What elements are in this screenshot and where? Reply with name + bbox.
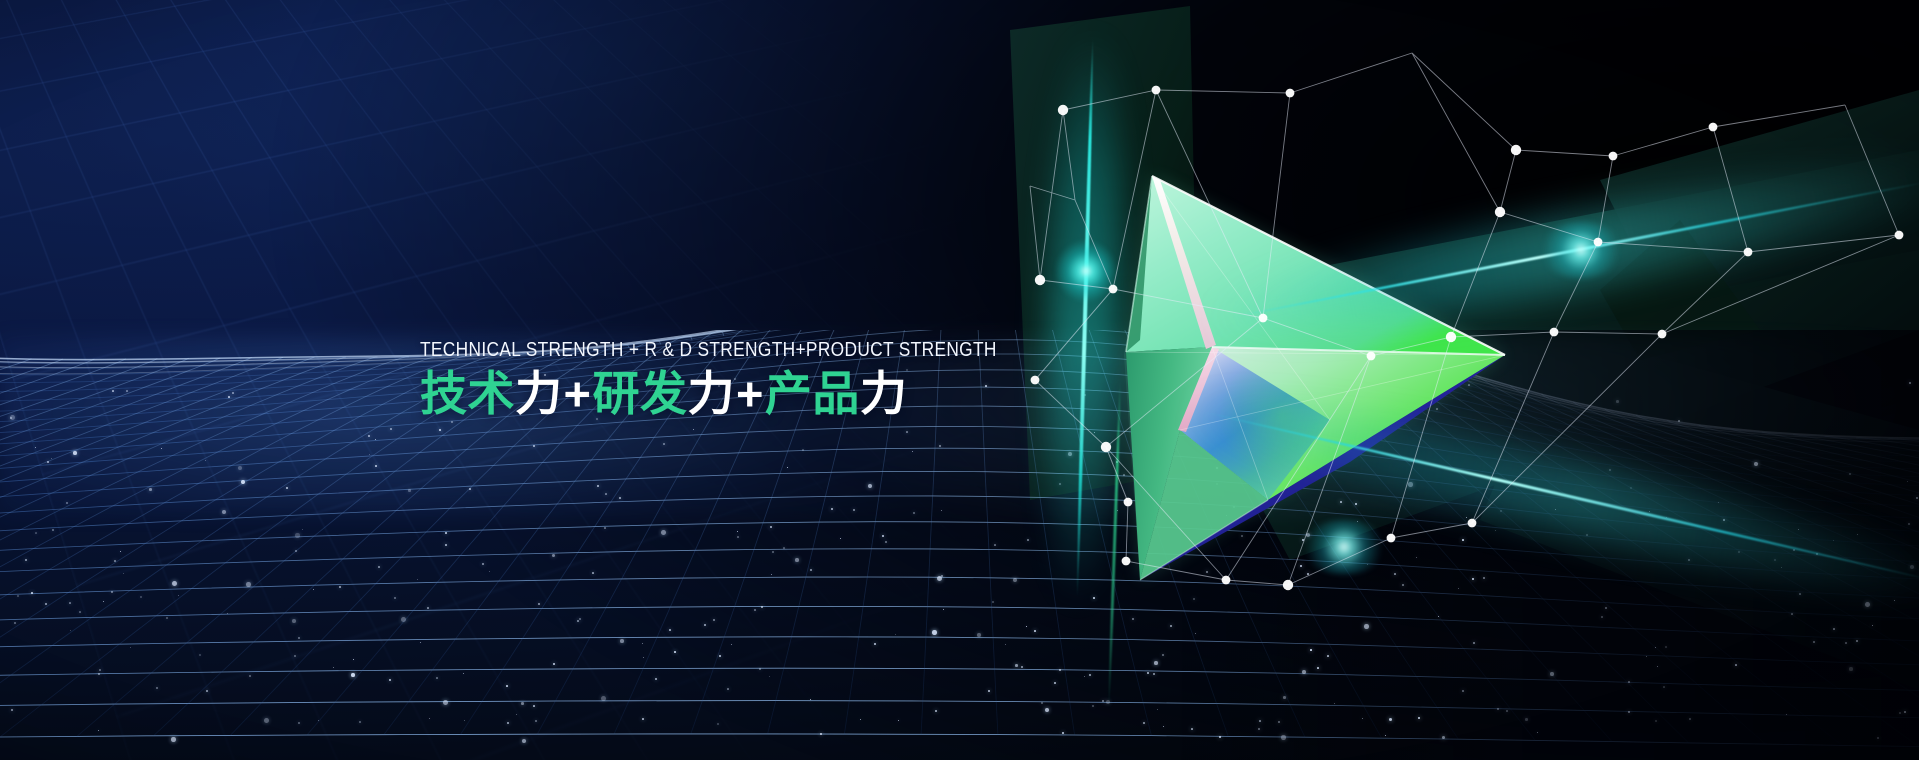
- particle-dot: [427, 607, 429, 609]
- particle-dot: [1665, 646, 1667, 648]
- particle-dot: [1909, 382, 1911, 384]
- particle-dot: [408, 489, 411, 492]
- particle-dot: [1916, 497, 1918, 499]
- particle-dot: [592, 572, 594, 574]
- network-node: [1468, 519, 1477, 528]
- particle-dot: [1435, 379, 1437, 381]
- particle-dot: [992, 601, 994, 603]
- particle-dot: [482, 563, 484, 565]
- particle-dot: [533, 445, 535, 447]
- particle-dot: [295, 533, 300, 538]
- particle-dot: [178, 595, 179, 596]
- network-node: [1152, 86, 1161, 95]
- particle-dot: [11, 709, 13, 711]
- particle-dot: [521, 702, 524, 705]
- particle-dot: [1385, 735, 1386, 736]
- particle-dot: [507, 722, 509, 724]
- particle-dot: [1857, 534, 1858, 535]
- particle-dot: [1418, 717, 1420, 719]
- network-node: [1495, 207, 1505, 217]
- particle-dot: [932, 630, 937, 635]
- particle-dot: [1601, 616, 1603, 618]
- particle-dot: [820, 733, 822, 735]
- particle-dot: [232, 392, 234, 394]
- particle-dot: [727, 688, 729, 690]
- particle-dot: [1170, 625, 1172, 627]
- particle-dot: [1059, 669, 1061, 671]
- particle-dot: [868, 484, 872, 488]
- vertical-beam-flare: [1055, 240, 1117, 302]
- network-node: [1609, 152, 1618, 161]
- particle-dot: [1799, 593, 1801, 595]
- prism-left-face: [1126, 347, 1212, 580]
- particle-dot: [1362, 718, 1363, 719]
- particle-dot: [1605, 607, 1607, 609]
- particle-dot: [1655, 720, 1657, 722]
- particle-dot: [906, 431, 908, 433]
- particle-dot: [1034, 630, 1036, 632]
- particle-dot: [1015, 664, 1018, 667]
- particle-dot: [66, 502, 68, 504]
- particle-dot: [31, 592, 33, 594]
- particle-dot: [52, 529, 54, 531]
- title-segment-2: +: [563, 367, 593, 420]
- particle-dot: [390, 428, 392, 430]
- particle-dot: [313, 589, 314, 590]
- particle-dot: [368, 435, 370, 437]
- particle-dot: [759, 668, 761, 670]
- particle-dot: [369, 454, 370, 455]
- particle-dot: [451, 421, 453, 423]
- title-segment-7: 力: [860, 367, 908, 420]
- particle-dot: [120, 551, 121, 552]
- particle-dot: [1132, 618, 1134, 620]
- particle-dot: [1147, 672, 1149, 674]
- particle-dot: [1389, 718, 1392, 721]
- particle-dot: [1754, 462, 1758, 466]
- particle-dot: [939, 445, 941, 447]
- particle-dot: [394, 597, 396, 599]
- particle-dot: [69, 602, 71, 604]
- particle-dot: [895, 634, 896, 635]
- particle-dot: [669, 629, 671, 631]
- particle-dot: [469, 488, 471, 490]
- particle-dot: [241, 480, 245, 484]
- particle-dot: [1506, 710, 1508, 712]
- particle-dot: [577, 620, 579, 622]
- particle-dot: [522, 739, 526, 743]
- particle-dot: [579, 618, 581, 620]
- particle-dot: [1334, 703, 1335, 704]
- particle-dot: [359, 721, 361, 723]
- particle-dot: [463, 673, 464, 674]
- particle-dot: [1062, 732, 1064, 734]
- particle-dot: [439, 429, 441, 431]
- particle-dot: [1045, 708, 1049, 712]
- particle-dot: [1226, 515, 1227, 516]
- particle-dot: [1317, 667, 1319, 669]
- particle-dot: [1193, 598, 1195, 600]
- particle-dot: [1877, 737, 1879, 739]
- particle-dot: [1216, 467, 1218, 469]
- particle-dot: [1628, 711, 1630, 713]
- particle-dot: [860, 719, 861, 720]
- particle-dot: [1153, 673, 1155, 675]
- particle-dot: [286, 487, 288, 489]
- particle-dot: [1872, 625, 1873, 626]
- particle-dot: [51, 458, 52, 459]
- particle-dot: [943, 609, 944, 610]
- particle-dot: [1364, 624, 1369, 629]
- particle-dot: [1655, 647, 1656, 648]
- particle-dot: [264, 718, 269, 723]
- particle-dot: [1157, 709, 1158, 710]
- particle-dot: [10, 415, 15, 420]
- particle-dot: [802, 449, 804, 451]
- particle-dot: [172, 581, 177, 586]
- title-segment-1: 力: [515, 367, 563, 420]
- title-segment-6: 产品: [765, 367, 860, 420]
- particle-dot: [45, 603, 47, 605]
- particle-dot: [1849, 667, 1853, 671]
- particle-dot: [674, 651, 676, 653]
- particle-dot: [840, 538, 841, 539]
- particle-dot: [885, 541, 887, 543]
- particle-dot: [1005, 644, 1006, 645]
- particle-dot: [1786, 714, 1787, 715]
- particle-dot: [787, 467, 788, 468]
- particle-dot: [1495, 530, 1496, 531]
- particle-dot: [988, 690, 990, 692]
- particle-dot: [552, 554, 555, 557]
- particle-dot: [378, 566, 380, 568]
- particle-dot: [1300, 565, 1302, 567]
- title-segment-4: 力: [687, 367, 735, 420]
- particle-dot: [1143, 722, 1145, 724]
- particle-dot: [1849, 473, 1851, 475]
- particle-dot: [420, 642, 421, 643]
- title-segment-5: +: [735, 367, 765, 420]
- particle-dot: [70, 630, 71, 631]
- network-node: [1283, 580, 1293, 590]
- particle-dot: [318, 720, 319, 721]
- network-node: [1286, 89, 1295, 98]
- particle-dot: [99, 669, 101, 671]
- particle-dot: [443, 700, 448, 705]
- particle-dot: [1856, 640, 1858, 642]
- network-node: [1122, 557, 1131, 566]
- particle-dot: [663, 443, 665, 445]
- particle-dot: [1466, 517, 1467, 518]
- particle-dot: [538, 603, 540, 605]
- particle-dot: [693, 429, 694, 430]
- particle-dot: [1142, 531, 1144, 533]
- particle-dot: [1195, 633, 1196, 634]
- particle-dot: [1904, 711, 1906, 713]
- particle-dot: [553, 663, 555, 665]
- particle-dot: [1084, 676, 1085, 677]
- particle-dot: [112, 390, 114, 392]
- particle-dot: [1402, 584, 1404, 586]
- prism-left-flank-dark: [1126, 176, 1152, 352]
- network-node: [1550, 328, 1559, 337]
- particle-dot: [73, 451, 77, 455]
- particle-dot: [98, 673, 100, 675]
- particle-dot: [1021, 666, 1023, 668]
- particle-dot: [149, 488, 152, 491]
- particle-dot: [1436, 408, 1438, 410]
- prism-left-lower: [1140, 430, 1268, 580]
- particle-dot: [1468, 384, 1470, 386]
- particle-dot: [1027, 539, 1029, 541]
- particle-dot: [333, 667, 334, 668]
- particle-dot: [772, 551, 774, 553]
- particle-dot: [339, 586, 341, 588]
- network-node: [1511, 145, 1521, 155]
- particle-dot: [1102, 700, 1104, 702]
- particle-dot: [294, 655, 296, 657]
- particle-dot: [719, 655, 721, 657]
- particle-dot: [655, 678, 657, 680]
- network-node: [1124, 498, 1133, 507]
- particle-dot: [130, 647, 131, 648]
- particle-dot: [227, 613, 228, 614]
- particle-dot: [199, 654, 201, 656]
- particle-dot: [14, 622, 16, 624]
- particle-dot: [771, 574, 772, 575]
- particle-dot: [238, 466, 242, 470]
- particle-dot: [941, 510, 942, 511]
- particle-dot: [489, 571, 490, 572]
- particle-dot: [98, 730, 99, 731]
- particle-dot: [1833, 628, 1835, 630]
- particle-dot: [1258, 728, 1260, 730]
- particle-dot: [1616, 400, 1619, 403]
- particle-dot: [205, 460, 206, 461]
- particle-dot: [1132, 397, 1134, 399]
- particle-dot: [761, 606, 763, 608]
- upper-diagonal-flare: [1538, 222, 1624, 278]
- particle-dot: [810, 699, 811, 700]
- particle-dot: [1462, 539, 1464, 541]
- particle-dot: [1310, 649, 1312, 651]
- particle-dot: [605, 493, 607, 495]
- particle-dot: [1353, 394, 1355, 396]
- particle-dot: [302, 529, 303, 530]
- particle-dot: [601, 696, 606, 701]
- particle-dot: [1241, 535, 1243, 537]
- prism-spine: [1152, 176, 1216, 349]
- particle-dot: [1013, 578, 1017, 582]
- particle-dot: [1041, 702, 1043, 704]
- particle-dot: [717, 723, 719, 725]
- particle-dot: [1483, 577, 1485, 579]
- particle-dot: [298, 637, 300, 639]
- particle-dot: [1550, 672, 1554, 676]
- particle-dot: [535, 720, 537, 722]
- network-node: [1035, 275, 1045, 285]
- particle-dot: [1026, 626, 1027, 627]
- lower-diagonal-flare: [1300, 520, 1388, 574]
- particle-dot: [1473, 642, 1475, 644]
- particle-dot: [1688, 559, 1690, 561]
- particle-dot: [1628, 681, 1630, 683]
- particle-dot: [103, 601, 104, 602]
- title-segment-0: 技术: [420, 367, 515, 420]
- network-node: [1658, 330, 1667, 339]
- hero-banner: TECHNICAL STRENGTH + R & D STRENGTH+PROD…: [0, 0, 1919, 760]
- particle-dot: [661, 530, 666, 535]
- particle-dot: [810, 569, 812, 571]
- particle-dot: [1394, 573, 1396, 575]
- particle-dot: [123, 573, 124, 574]
- particle-dot: [79, 611, 81, 613]
- particle-dot: [375, 465, 377, 467]
- lower-diagonal-beam-glow: [1172, 373, 1919, 621]
- particle-dot: [1092, 705, 1094, 707]
- particle-dot: [295, 550, 297, 552]
- particle-dot: [47, 461, 49, 463]
- particle-dot: [619, 497, 621, 499]
- particle-dot: [1219, 736, 1221, 738]
- particle-dot: [246, 582, 251, 587]
- particle-dot: [1908, 523, 1910, 525]
- particle-dot: [35, 447, 36, 448]
- particle-dot: [1458, 588, 1459, 589]
- particle-dot: [222, 510, 226, 514]
- particle-dot: [533, 705, 535, 707]
- particle-dot: [853, 509, 855, 511]
- particle-dot: [298, 722, 300, 724]
- particle-dot: [994, 544, 996, 546]
- particle-dot: [292, 619, 296, 623]
- particle-dot: [114, 560, 116, 562]
- particle-dot: [1281, 735, 1286, 740]
- particle-dot: [1438, 616, 1439, 617]
- particle-dot: [1163, 726, 1164, 727]
- particle-dot: [704, 624, 706, 626]
- particle-dot: [1340, 501, 1342, 503]
- particle-dot: [1899, 712, 1901, 714]
- particle-dot: [1813, 641, 1815, 643]
- particle-dot: [17, 595, 19, 597]
- particle-dot: [1845, 642, 1847, 644]
- particle-dot: [1191, 728, 1193, 730]
- particle-dot: [126, 390, 128, 392]
- particle-dot: [913, 512, 915, 514]
- headline-eyebrow: TECHNICAL STRENGTH + R & D STRENGTH+PROD…: [420, 339, 944, 362]
- particle-dot: [429, 718, 430, 719]
- particle-dot: [737, 531, 738, 532]
- particle-dot: [1442, 736, 1445, 739]
- particle-dot: [1154, 661, 1158, 665]
- particle-dot: [1278, 721, 1280, 723]
- particle-dot: [249, 675, 251, 677]
- particle-dot: [1222, 384, 1223, 385]
- particle-dot: [769, 676, 770, 677]
- particle-dot: [1355, 503, 1357, 505]
- particle-dot: [375, 439, 376, 440]
- particle-dot: [1054, 682, 1056, 684]
- network-node: [1709, 123, 1718, 132]
- particle-dot: [737, 536, 739, 538]
- particle-dot: [1123, 474, 1125, 476]
- particle-dot: [795, 558, 799, 562]
- particle-dot: [445, 544, 447, 546]
- particle-dot: [643, 657, 644, 658]
- particle-dot: [912, 451, 913, 452]
- particle-dot: [1283, 696, 1286, 699]
- network-node: [1367, 352, 1376, 361]
- particle-dot: [882, 535, 884, 537]
- particle-dot: [1206, 571, 1208, 573]
- network-node: [1895, 231, 1904, 240]
- particle-dot: [464, 720, 465, 721]
- network-node: [1387, 534, 1396, 543]
- particle-dot: [161, 448, 162, 449]
- particle-dot: [1894, 600, 1895, 601]
- particle-dot: [1678, 420, 1680, 422]
- particle-dot: [436, 677, 438, 679]
- particle-dot: [1462, 690, 1464, 692]
- headline-block: TECHNICAL STRENGTH + R & D STRENGTH+PROD…: [420, 339, 1040, 420]
- particle-dot: [506, 685, 508, 687]
- particle-dot: [353, 659, 354, 660]
- particle-dot: [417, 579, 418, 580]
- particle-dot: [1663, 686, 1665, 688]
- particle-dot: [1233, 506, 1235, 508]
- particle-dot: [351, 673, 355, 677]
- particle-dot: [1657, 666, 1658, 667]
- particle-dot: [783, 547, 785, 549]
- particle-dot: [1089, 674, 1091, 676]
- particle-dot: [597, 485, 599, 487]
- particle-dot: [1735, 664, 1737, 666]
- particle-dot: [1646, 656, 1647, 657]
- particle-dot: [642, 718, 644, 720]
- particle-dot: [604, 527, 606, 529]
- title-segment-3: 研发: [592, 367, 687, 420]
- particle-dot: [941, 575, 943, 577]
- particle-dot: [1689, 718, 1691, 720]
- particle-dot: [1093, 597, 1095, 599]
- particle-dot: [516, 714, 517, 715]
- particle-dot: [156, 687, 158, 689]
- particle-dot: [1537, 732, 1538, 733]
- particle-dot: [1525, 718, 1528, 721]
- particle-dot: [1259, 720, 1261, 722]
- particle-dot: [445, 532, 447, 534]
- particle-dot: [171, 737, 176, 742]
- particle-dot: [389, 679, 391, 681]
- particle-dot: [1791, 613, 1793, 615]
- network-node: [1446, 332, 1456, 342]
- particle-dot: [1162, 654, 1164, 656]
- particle-dot: [1302, 670, 1306, 674]
- particle-dot: [935, 710, 937, 712]
- particle-dot: [937, 576, 942, 581]
- particle-dot: [754, 609, 756, 611]
- particle-dot: [1907, 481, 1908, 482]
- particle-dot: [25, 559, 27, 561]
- particle-dot: [620, 639, 624, 643]
- particle-dot: [1216, 483, 1218, 485]
- particle-dot: [111, 591, 113, 593]
- particle-dot: [166, 617, 168, 619]
- particle-dot: [401, 617, 406, 622]
- particle-dot: [831, 508, 833, 510]
- particle-dot: [1865, 602, 1870, 607]
